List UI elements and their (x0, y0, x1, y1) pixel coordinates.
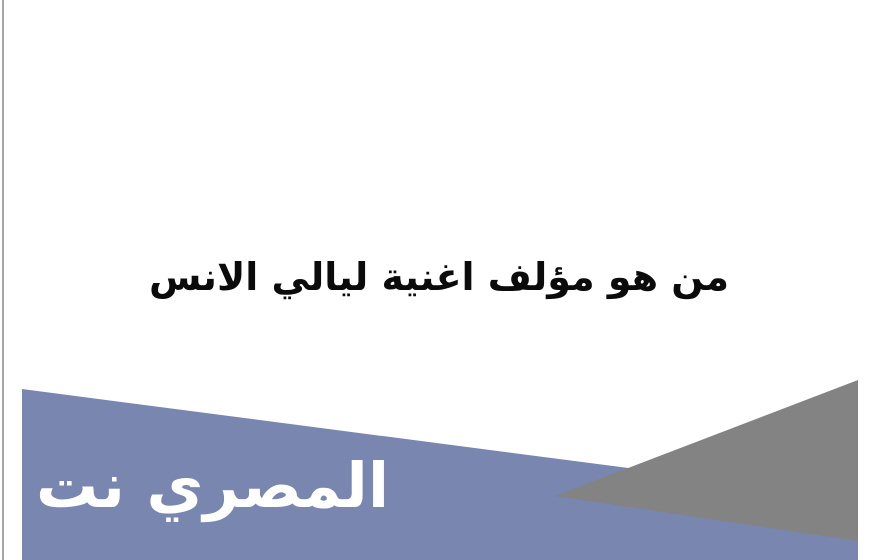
page-title: من هو مؤلف اغنية ليالي الانس (0, 249, 878, 305)
site-logo-wordmark: المصري نت (36, 449, 389, 523)
article-thumbnail-canvas: من هو مؤلف اغنية ليالي الانس المصري نت (0, 0, 878, 560)
